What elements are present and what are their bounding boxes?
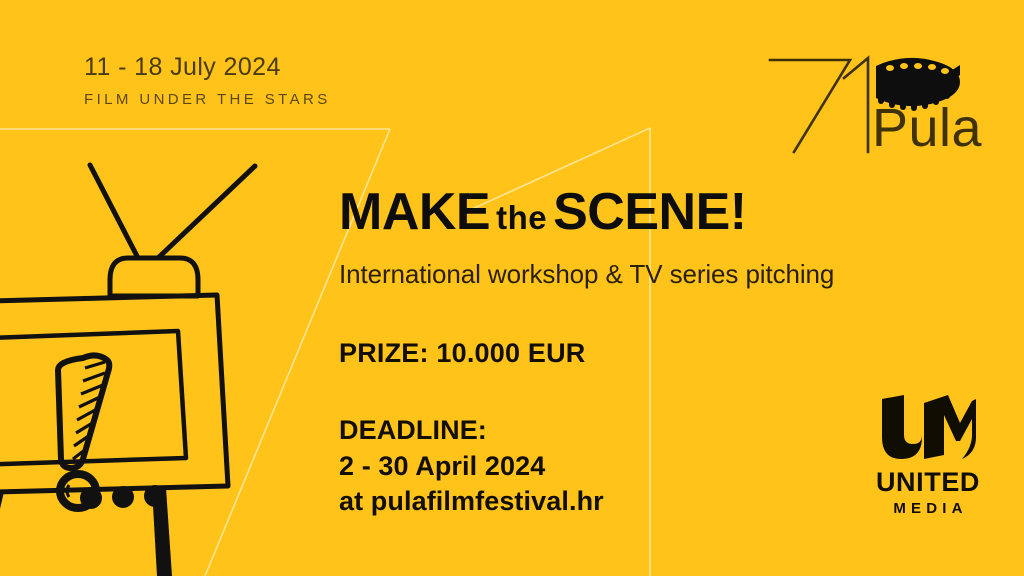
headline-word-make: MAKE — [339, 183, 490, 241]
festival-date-block: 11 - 18 July 2024 FILM UNDER THE STARS — [84, 54, 331, 108]
edition-number-1-glyph — [844, 58, 868, 152]
page-title: MAKEtheSCENE! — [339, 186, 979, 238]
prize-amount: PRIZE: 10.000 EUR — [339, 338, 979, 369]
exclamation-mark-symbol — [58, 355, 109, 508]
united-media-logo[interactable]: UNITED MEDIA — [862, 393, 994, 516]
tv-antenna-left — [90, 165, 138, 258]
tv-screen — [0, 331, 186, 466]
headline-word-the: the — [490, 199, 553, 236]
tv-knob-1 — [80, 487, 102, 509]
retro-tv-illustration — [0, 140, 290, 576]
subtitle: International workshop & TV series pitch… — [339, 259, 979, 290]
poster-canvas: 11 - 18 July 2024 FILM UNDER THE STARS — [0, 0, 1024, 576]
pula-festival-logo[interactable]: Pula — [758, 44, 988, 154]
tv-antenna-base — [110, 258, 198, 296]
tv-leg-right — [152, 488, 172, 576]
united-media-subname: MEDIA — [862, 501, 994, 516]
headline-word-scene: SCENE! — [553, 183, 746, 241]
tv-leg-left — [0, 492, 4, 576]
pula-wordmark: Pula — [872, 98, 983, 154]
festival-dates: 11 - 18 July 2024 — [84, 54, 331, 82]
tv-knob-2 — [112, 486, 134, 508]
um-monogram-icon — [872, 393, 984, 463]
united-media-name: UNITED — [862, 469, 994, 496]
festival-tagline: FILM UNDER THE STARS — [84, 91, 331, 108]
edition-number-7-glyph — [770, 60, 850, 152]
tv-antenna-right — [158, 166, 255, 258]
